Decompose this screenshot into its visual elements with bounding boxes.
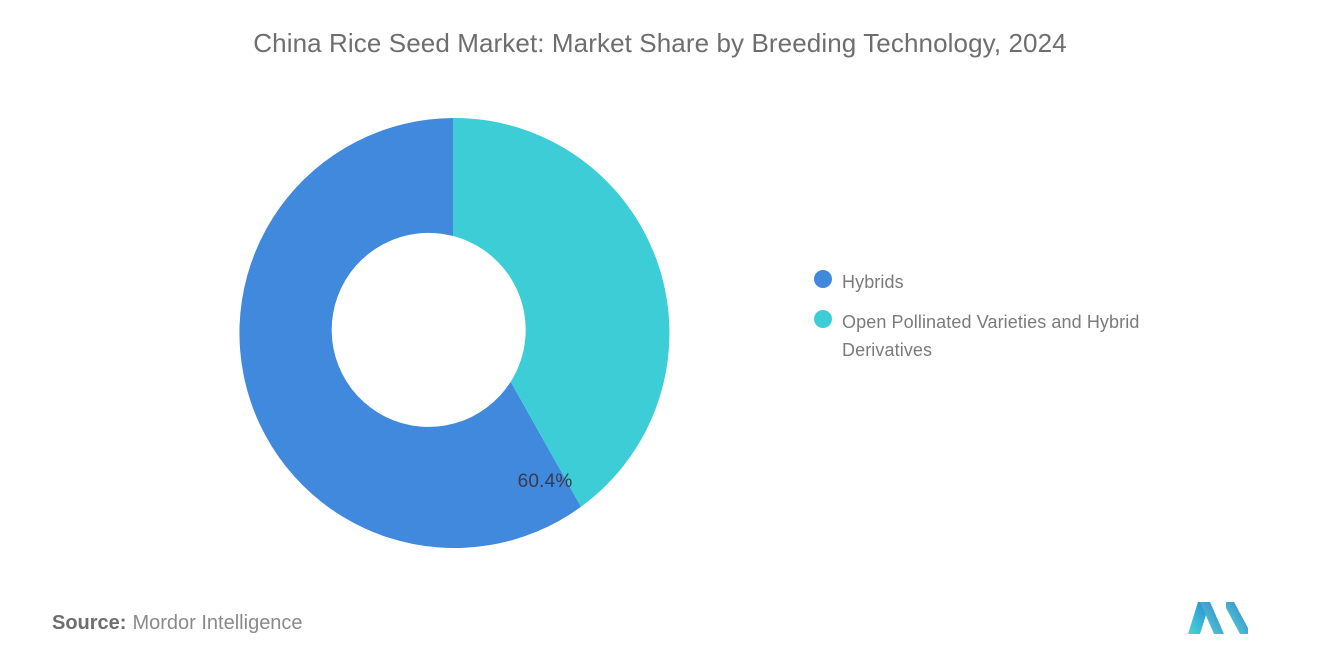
mordor-intelligence-logo-icon [1186,598,1250,638]
source-value: Mordor Intelligence [132,612,302,634]
legend-item-open-pollinated[interactable]: Open Pollinated Varieties and Hybrid Der… [814,308,1234,364]
legend-item-label: Open Pollinated Varieties and Hybrid Der… [842,308,1214,364]
legend-swatch-icon [814,310,832,328]
source-label: Source: [52,612,126,634]
source-line: Source:Mordor Intelligence [52,612,303,635]
donut-chart: 60.4% [228,108,678,558]
logo-svg [1186,598,1250,638]
chart-legend: Hybrids Open Pollinated Varieties and Hy… [814,268,1234,376]
legend-item-hybrids[interactable]: Hybrids [814,268,1234,296]
legend-swatch-icon [814,270,832,288]
page-title: China Rice Seed Market: Market Share by … [0,28,1320,59]
slice-label-hybrids: 60.4% [480,471,610,493]
legend-item-label: Hybrids [842,268,904,296]
donut-chart-svg [228,108,678,558]
